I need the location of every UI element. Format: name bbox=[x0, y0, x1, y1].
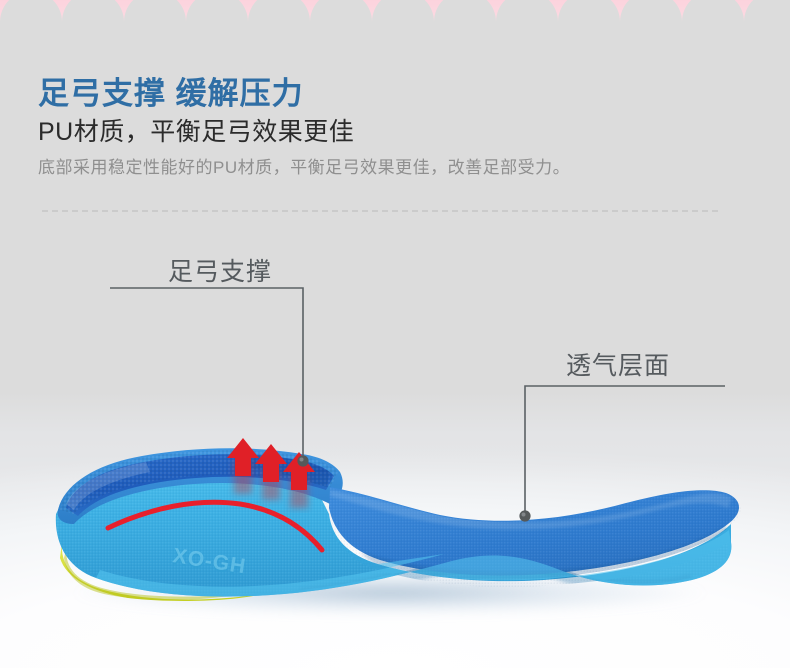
page-title: 足弓支撑 缓解压力 bbox=[38, 68, 304, 113]
product-detail-image: 足弓支撑 缓解压力 PU材质，平衡足弓效果更佳 底部采用稳定性能好的PU材质，平… bbox=[0, 0, 790, 668]
callout-label-arch-support: 足弓支撑 bbox=[168, 252, 272, 288]
page-subtitle: PU材质，平衡足弓效果更佳 bbox=[38, 112, 354, 148]
product-photo: XO-GH XO-GH bbox=[0, 392, 790, 668]
insole-illustration: XO-GH XO-GH bbox=[0, 392, 790, 668]
page-description: 底部采用稳定性能好的PU材质，平衡足弓效果更佳，改善足部受力。 bbox=[38, 153, 570, 178]
section-divider bbox=[42, 210, 718, 212]
callout-label-breathable-surface: 透气层面 bbox=[566, 346, 670, 382]
